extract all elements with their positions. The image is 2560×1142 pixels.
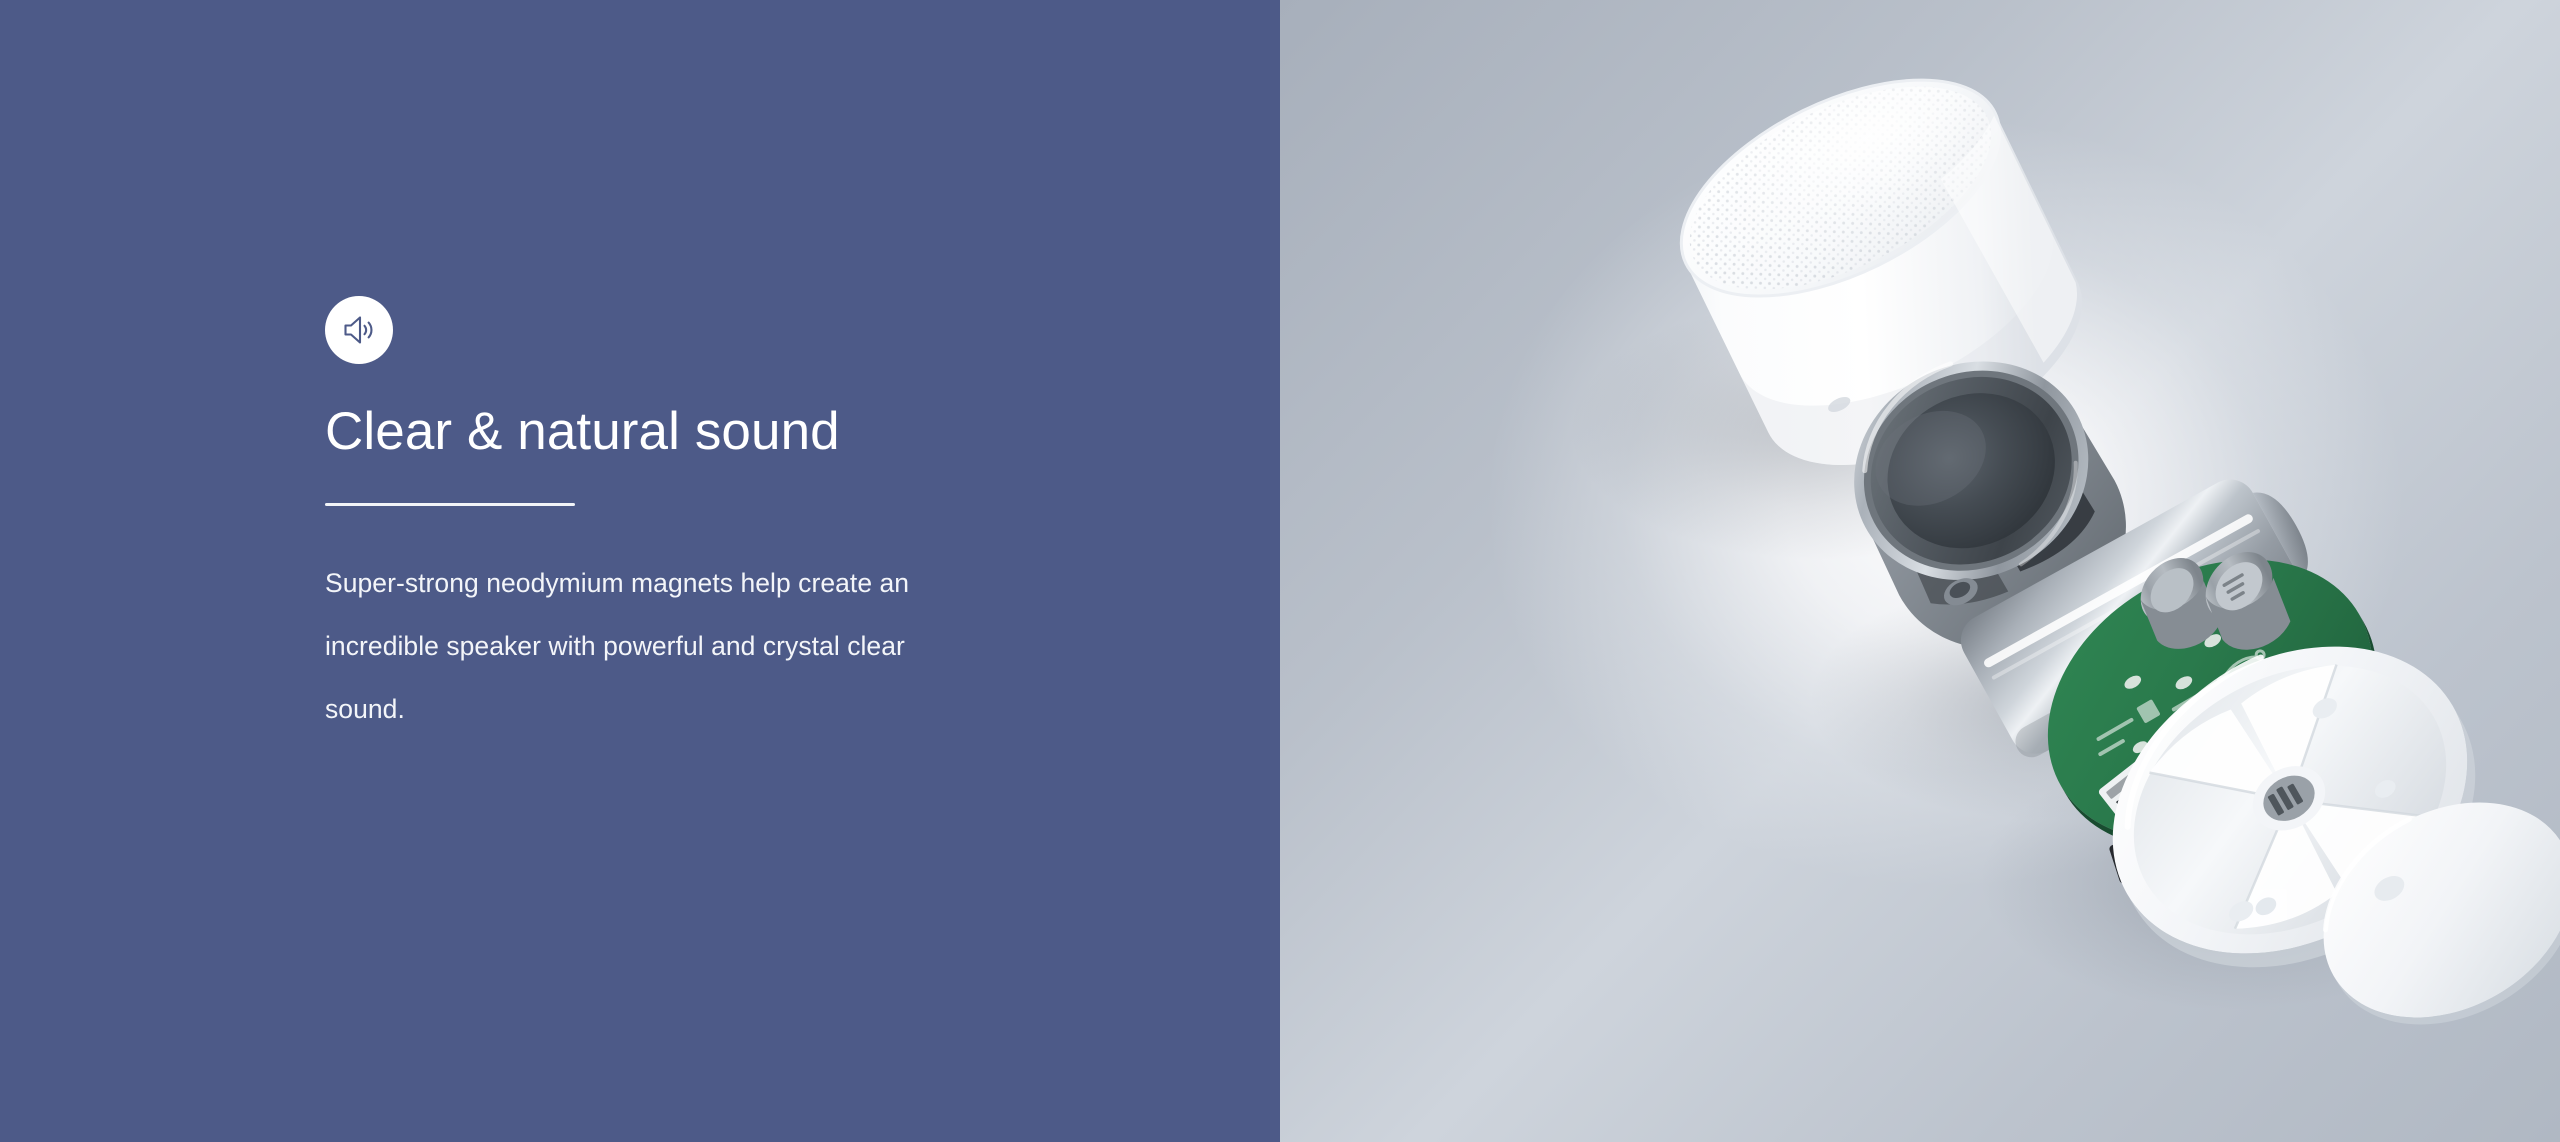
right-product-panel bbox=[1280, 0, 2560, 1142]
body-paragraph: Super-strong neodymium magnets help crea… bbox=[325, 552, 1155, 741]
feature-banner: Clear & natural sound Super-strong neody… bbox=[0, 0, 2560, 1142]
speaker-volume-icon-badge bbox=[325, 296, 393, 364]
speaker-volume-icon bbox=[341, 314, 377, 346]
left-content-block: Clear & natural sound Super-strong neody… bbox=[325, 296, 1155, 741]
divider-rule bbox=[325, 503, 575, 506]
headline: Clear & natural sound bbox=[325, 402, 1155, 461]
left-text-panel: Clear & natural sound Super-strong neody… bbox=[0, 0, 1280, 1142]
exploded-speaker-illustration bbox=[1280, 0, 2560, 1142]
